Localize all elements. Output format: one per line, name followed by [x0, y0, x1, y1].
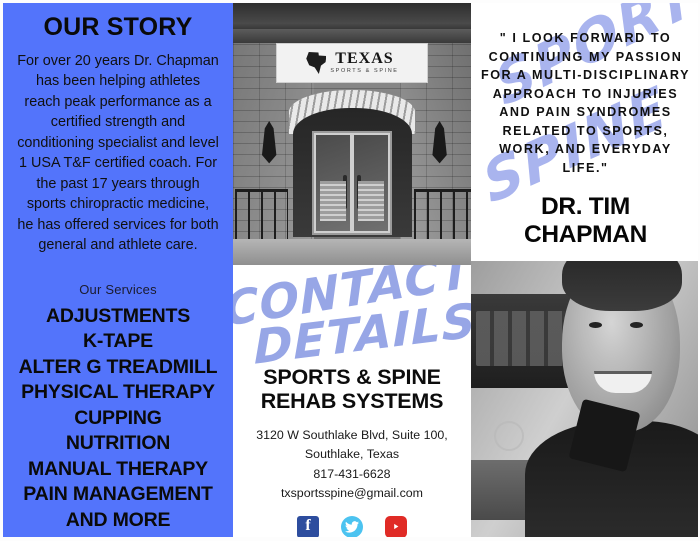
services-list: ADJUSTMENTS K-TAPE ALTER G TREADMILL PHY…	[9, 304, 227, 534]
business-name: SPORTS & SPINE REHAB SYSTEMS	[261, 365, 444, 414]
business-name-line1: SPORTS & SPINE	[261, 365, 444, 389]
contact-watermark-line2: DETAILS	[253, 302, 471, 370]
storefront-and-contact-panel: TEXAS SPORTS & SPINE CONTACT DETAILS SPO…	[233, 3, 471, 537]
quote-text: " I LOOK FORWARD TO CONTINUING MY PASSIO…	[479, 29, 692, 177]
entrance-doors	[312, 131, 393, 235]
storefront-sign: TEXAS SPORTS & SPINE	[276, 43, 428, 83]
list-item: ALTER G TREADMILL	[9, 355, 227, 381]
address-line-2: Southlake, Texas	[256, 445, 448, 465]
phone-number[interactable]: 817-431-6628	[256, 465, 448, 485]
services-label: Our Services	[79, 282, 157, 297]
page-title: OUR STORY	[43, 13, 192, 42]
story-body-text: For over 20 years Dr. Chapman has been h…	[9, 51, 227, 256]
list-item: NUTRITION	[9, 431, 227, 457]
list-item: K-TAPE	[9, 329, 227, 355]
story-and-services-panel: OUR STORY For over 20 years Dr. Chapman …	[3, 3, 233, 537]
storefront-photo: TEXAS SPORTS & SPINE	[233, 3, 471, 265]
sign-secondary-text: SPORTS & SPINE	[330, 69, 398, 75]
brochure-page: OUR STORY For over 20 years Dr. Chapman …	[0, 0, 700, 541]
list-item: PHYSICAL THERAPY	[9, 380, 227, 406]
youtube-icon[interactable]	[385, 516, 407, 537]
quote-and-portrait-panel: SPORTS SPINE " I LOOK FORWARD TO CONTINU…	[471, 3, 698, 537]
facebook-icon[interactable]: f	[297, 516, 319, 537]
email-address[interactable]: txsportsspine@gmail.com	[256, 484, 448, 504]
quote-attribution: DR. TIM CHAPMAN	[479, 193, 692, 249]
twitter-icon[interactable]	[341, 516, 363, 537]
texas-state-icon	[305, 52, 326, 74]
social-links: f	[297, 516, 407, 537]
list-item: AND MORE	[9, 508, 227, 534]
contact-info: 3120 W Southlake Blvd, Suite 100, Southl…	[256, 426, 448, 504]
list-item: MANUAL THERAPY	[9, 457, 227, 483]
list-item: ADJUSTMENTS	[9, 304, 227, 330]
contact-watermark: CONTACT DETAILS	[233, 271, 471, 356]
list-item: CUPPING	[9, 406, 227, 432]
contact-watermark-line1: CONTACT	[233, 265, 471, 331]
sign-primary-text: TEXAS	[335, 51, 393, 67]
contact-details-section: CONTACT DETAILS SPORTS & SPINE REHAB SYS…	[233, 265, 471, 537]
address-line-1: 3120 W Southlake Blvd, Suite 100,	[256, 426, 448, 446]
doctor-portrait-photo	[471, 261, 698, 537]
quote-section: SPORTS SPINE " I LOOK FORWARD TO CONTINU…	[471, 3, 698, 261]
business-name-line2: REHAB SYSTEMS	[261, 389, 444, 413]
list-item: PAIN MANAGEMENT	[9, 482, 227, 508]
